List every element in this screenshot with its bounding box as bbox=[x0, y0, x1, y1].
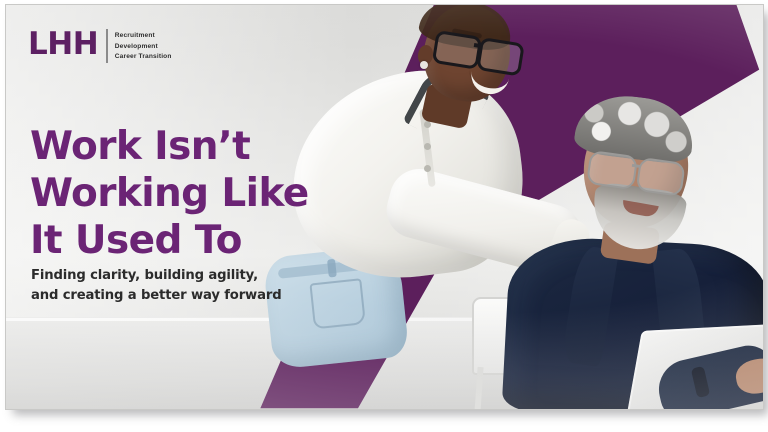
laptop-keyboard bbox=[642, 409, 756, 410]
logo-tagline: Recruitment Development Career Transitio… bbox=[115, 29, 172, 63]
eyeglass-lens-right bbox=[476, 37, 525, 76]
subheadline-line-1: Finding clarity, building agility, bbox=[31, 266, 331, 286]
eyeglass-lens-left bbox=[586, 150, 638, 190]
presentation-slide: LHH Recruitment Development Career Trans… bbox=[5, 4, 764, 410]
headline-line-1: Work Isn’t bbox=[30, 123, 330, 170]
slide-text-layer: LHH Recruitment Development Career Trans… bbox=[6, 5, 336, 409]
eyeglass-lens-left bbox=[432, 30, 483, 70]
jacket-button bbox=[424, 165, 431, 172]
subheadline-line-2: and creating a better way forward bbox=[31, 286, 331, 306]
laptop-base bbox=[608, 409, 764, 410]
lhh-logo[interactable]: LHH Recruitment Development Career Trans… bbox=[28, 29, 172, 63]
logo-tagline-line-1: Recruitment bbox=[115, 31, 172, 42]
logo-tagline-line-3: Career Transition bbox=[115, 52, 172, 63]
slide-subheadline: Finding clarity, building agility, and c… bbox=[31, 266, 331, 305]
slide-headline: Work Isn’t Working Like It Used To bbox=[30, 123, 330, 264]
seated-man-at-laptop bbox=[526, 91, 764, 410]
jacket-button bbox=[424, 143, 431, 150]
headline-line-2: Working Like bbox=[30, 170, 330, 217]
screenshot-canvas: LHH Recruitment Development Career Trans… bbox=[0, 0, 768, 432]
lhh-wordmark: LHH bbox=[28, 29, 98, 59]
eyeglass-lens-right bbox=[636, 157, 686, 197]
headline-line-3: It Used To bbox=[30, 217, 330, 264]
logo-tagline-line-2: Development bbox=[115, 42, 172, 53]
woman-earring bbox=[420, 61, 428, 69]
logo-divider-rule bbox=[106, 29, 108, 63]
